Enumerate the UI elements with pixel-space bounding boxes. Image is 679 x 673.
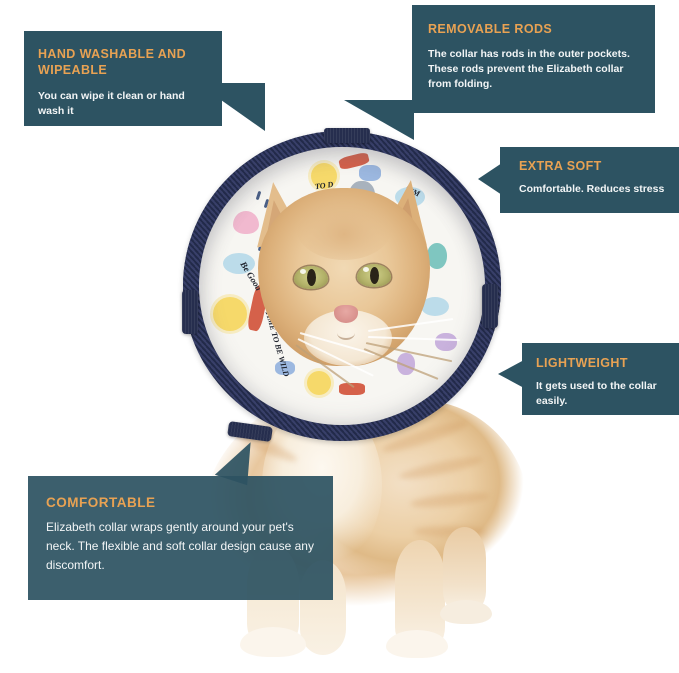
collar-rod-pocket [482, 284, 498, 328]
cat-paw [240, 627, 306, 657]
cat-paw [386, 630, 448, 658]
cat-eye-left [294, 266, 328, 289]
callout-body: The collar has rods in the outer pockets… [428, 47, 639, 92]
collar-rod-pocket [182, 290, 198, 334]
callout-title: LIGHTWEIGHT [536, 355, 679, 371]
callout-body: It gets used to the collar easily. [536, 379, 679, 409]
callout-comfortable: COMFORTABLE Elizabeth collar wraps gentl… [28, 476, 333, 600]
callout-body: You can wipe it clean or hand wash it [38, 89, 208, 119]
callout-extra-soft: EXTRA SOFT Comfortable. Reduces stress [500, 147, 679, 213]
cat-eye-glint [300, 269, 306, 274]
callout-body: Comfortable. Reduces stress [519, 182, 679, 197]
cat-eye-glint [363, 267, 369, 272]
callout-tail-removable-rods [344, 100, 414, 140]
cat-pupil [370, 267, 379, 284]
callout-removable-rods: REMOVABLE RODS The collar has rods in th… [412, 5, 655, 113]
cat-eye-right [357, 264, 391, 287]
cat-mouth [337, 326, 355, 340]
cat-pupil [307, 269, 316, 286]
callout-title: REMOVABLE RODS [428, 21, 639, 37]
callout-lightweight: LIGHTWEIGHT It gets used to the collar e… [522, 343, 679, 415]
callout-tail-extra-soft [478, 163, 502, 195]
callout-tail-lightweight [498, 360, 524, 388]
cat-forehead-marking [296, 196, 392, 260]
callout-hand-washable: HAND WASHABLE AND WIPEABLE You can wipe … [24, 31, 222, 126]
callout-title: EXTRA SOFT [519, 158, 679, 174]
callout-title: COMFORTABLE [46, 494, 317, 511]
infographic-canvas: Be Good TIME TO BE WILD TO D TIM BE [0, 0, 679, 673]
callout-body: Elizabeth collar wraps gently around you… [46, 518, 317, 575]
cat-paw [440, 600, 492, 624]
callout-title: HAND WASHABLE AND WIPEABLE [38, 46, 208, 78]
